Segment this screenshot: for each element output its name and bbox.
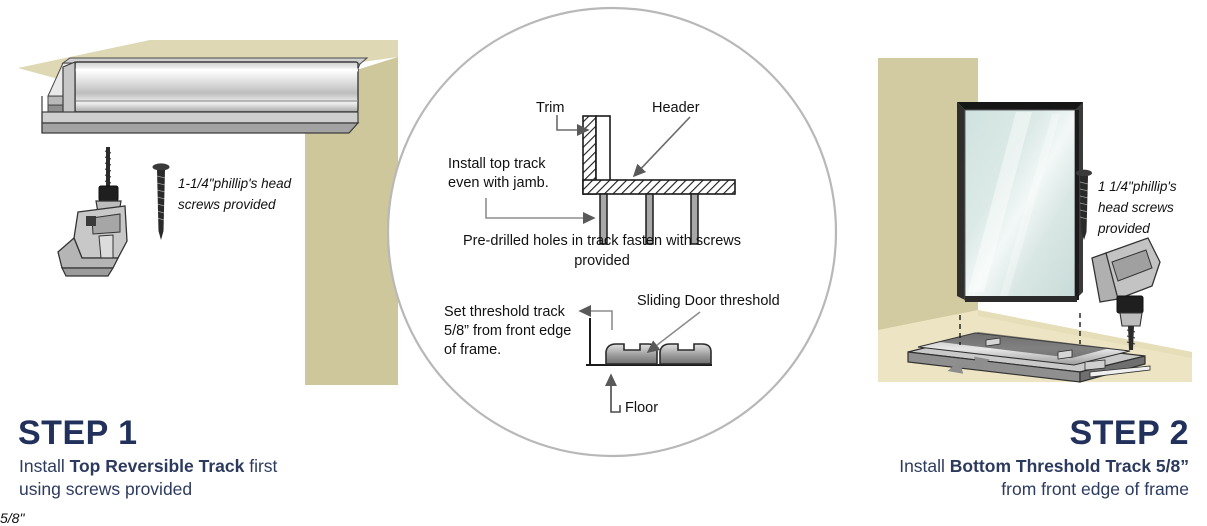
diagram-canvas: STEP 1 Install Top Reversible Track firs…	[0, 0, 1207, 510]
label-predrilled-holes: Pre-drilled holes in track fasten with s…	[452, 231, 752, 271]
glass-door-panel-illustration	[957, 102, 1083, 302]
step1-subtext-pre: Install	[19, 456, 70, 476]
drill-icon	[1092, 238, 1160, 350]
step1-subtext-bold: Top Reversible Track	[70, 456, 245, 476]
label-floor: Floor	[625, 399, 658, 418]
label-install-top-track: Install top track even with jamb.	[448, 155, 573, 193]
step2-subtext: Install Bottom Threshold Track 5/8” from…	[700, 455, 1189, 501]
screw-icon	[153, 163, 170, 240]
step1-screw-note: 1-1/4"phillip's head screws provided	[178, 173, 308, 215]
label-header: Header	[652, 99, 700, 118]
label-trim: Trim	[536, 99, 564, 118]
step2-screw-note: 1 1/4"phillip's head screws provided	[1098, 176, 1207, 239]
step2-subtext-pre: Install	[899, 456, 950, 476]
step2-subtext-bold: Bottom Threshold Track 5/8”	[950, 456, 1189, 476]
drill-icon	[58, 147, 127, 276]
label-sliding-door-threshold: Sliding Door threshold	[637, 292, 780, 311]
step1-subtext: Install Top Reversible Track first using…	[19, 455, 419, 501]
threshold-dimension-label: 5/8"	[0, 510, 1207, 526]
step1-subtext-line2: using screws provided	[19, 479, 192, 499]
label-set-threshold-track: Set threshold track 5/8” from front edge…	[444, 303, 579, 360]
top-reversible-track-illustration	[42, 58, 367, 133]
step2-heading: STEP 2	[0, 414, 1189, 453]
step2-subtext-line2: from front edge of frame	[1001, 479, 1189, 499]
step1-subtext-post: first	[244, 456, 277, 476]
